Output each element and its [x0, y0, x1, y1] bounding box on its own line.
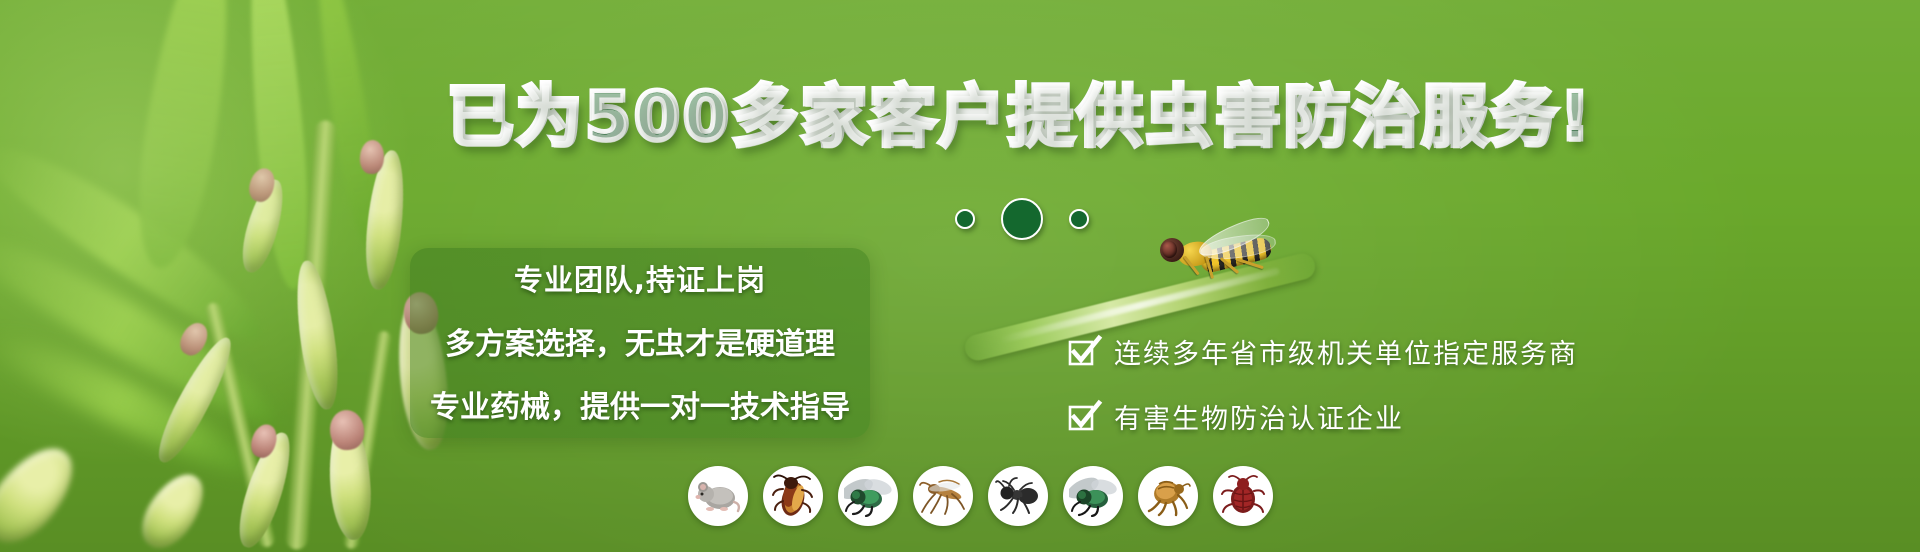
feature-line-2: 多方案选择，无虫才是硬道理	[410, 319, 870, 363]
hoverfly-icon	[1156, 226, 1296, 290]
mosquito-icon[interactable]	[913, 466, 973, 526]
dot-large-center	[1001, 198, 1043, 240]
flea-icon[interactable]	[1138, 466, 1198, 526]
pest-control-hero-banner: 已为500多家客户提供虫害防治服务! 专业团队,持证上岗 多方案选择，无虫才是硬…	[0, 0, 1920, 552]
pest-type-icon-strip	[688, 466, 1273, 526]
dot-small-right	[1069, 209, 1089, 229]
dot-small-left	[955, 209, 975, 229]
mouse-icon[interactable]	[688, 466, 748, 526]
checklist-item: 有害生物防治认证企业	[1068, 397, 1578, 436]
bedbug-icon[interactable]	[1213, 466, 1273, 526]
ant-icon[interactable]	[988, 466, 1048, 526]
checkbox-checked-icon	[1068, 402, 1098, 432]
credentials-checklist: 连续多年省市级机关单位指定服务商 有害生物防治认证企业	[1068, 332, 1578, 436]
checklist-item-label: 连续多年省市级机关单位指定服务商	[1114, 332, 1578, 371]
feature-line-1: 专业团队,持证上岗	[410, 257, 870, 299]
banner-headline-text: 已为500多家客户提供虫害防治服务!	[447, 78, 1593, 155]
checklist-item: 连续多年省市级机关单位指定服务商	[1068, 332, 1578, 371]
decorative-dots	[955, 198, 1089, 240]
checkbox-checked-icon	[1068, 337, 1098, 367]
blowfly-icon[interactable]	[1063, 466, 1123, 526]
feature-highlight-box: 专业团队,持证上岗 多方案选择，无虫才是硬道理 专业药械，提供一对一技术指导	[410, 248, 870, 438]
checklist-item-label: 有害生物防治认证企业	[1114, 397, 1404, 436]
banner-headline: 已为500多家客户提供虫害防治服务!	[0, 84, 1920, 150]
cockroach-icon[interactable]	[763, 466, 823, 526]
fly-icon[interactable]	[838, 466, 898, 526]
feature-line-3: 专业药械，提供一对一技术指导	[410, 382, 870, 426]
